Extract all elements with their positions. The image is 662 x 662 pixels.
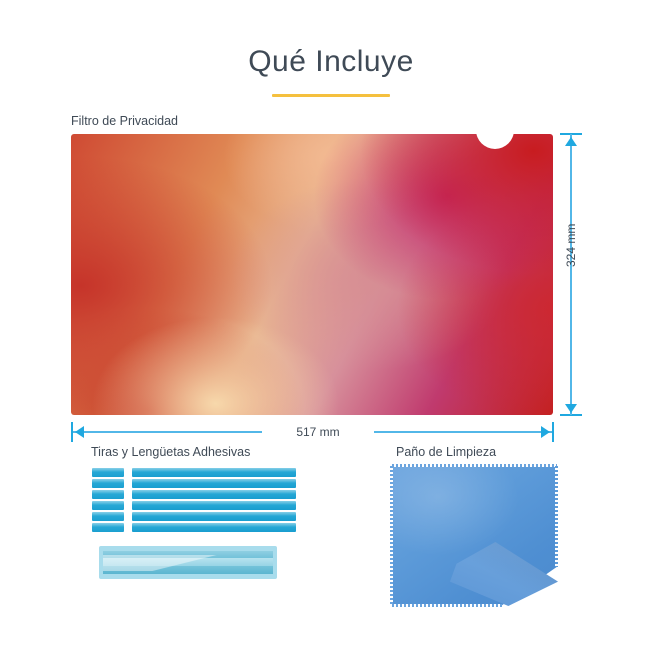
- adhesive-strip-tab: [92, 523, 124, 532]
- adhesive-strip-tab: [92, 479, 124, 488]
- adhesive-strip-tab: [92, 490, 124, 499]
- filter-corner-notch: [476, 134, 514, 149]
- dimension-arrow-down-icon: [565, 404, 577, 413]
- page-title: Qué Incluye: [0, 44, 662, 80]
- dimension-arrow-left-icon: [75, 426, 84, 438]
- adhesive-strip-row: [92, 501, 296, 510]
- adhesive-strip-row: [92, 490, 296, 499]
- adhesive-strip-row: [92, 468, 296, 477]
- cloth-stitched-edge-bottom: [392, 604, 502, 607]
- adhesive-strips-illustration: [92, 468, 296, 532]
- adhesive-strip-row: [92, 479, 296, 488]
- strip-stack-notch: [191, 546, 208, 550]
- dimension-width-label: 517 mm: [262, 425, 374, 439]
- adhesive-strip-tab: [92, 512, 124, 521]
- privacy-filter-label: Filtro de Privacidad: [71, 114, 178, 128]
- adhesive-strip-body: [132, 490, 296, 499]
- strip-stack-body: [103, 551, 273, 574]
- dimension-arrow-up-icon: [565, 137, 577, 146]
- adhesive-strip-row: [92, 523, 296, 532]
- strip-stack-highlight: [103, 555, 273, 571]
- adhesive-strip-stack-illustration: [99, 546, 277, 579]
- strip-stack-notch: [218, 546, 235, 550]
- strip-stack-notch: [245, 546, 262, 550]
- adhesive-strip-body: [132, 523, 296, 532]
- dimension-arrow-right-icon: [541, 426, 550, 438]
- adhesive-strip-body: [132, 501, 296, 510]
- adhesive-strip-row: [92, 512, 296, 521]
- cloth-stitched-edge-top: [392, 464, 557, 467]
- cleaning-cloth-label: Paño de Limpieza: [396, 445, 496, 459]
- dimension-tick-left: [71, 422, 73, 442]
- cloth-stitched-edge-right: [555, 466, 558, 567]
- adhesive-strips-label: Tiras y Lengüetas Adhesivas: [91, 445, 250, 459]
- dimension-tick-right: [552, 422, 554, 442]
- cloth-stitched-edge-left: [390, 466, 393, 606]
- title-underline-rule: [272, 94, 390, 97]
- adhesive-strip-body: [132, 512, 296, 521]
- adhesive-strip-body: [132, 479, 296, 488]
- cleaning-cloth-illustration: [392, 466, 557, 606]
- dimension-line-vertical: [570, 134, 572, 415]
- dimension-height-label: 324 mm: [564, 245, 578, 267]
- adhesive-strip-body: [132, 468, 296, 477]
- adhesive-strip-tab: [92, 468, 124, 477]
- page-header: Qué Incluye: [0, 44, 662, 97]
- adhesive-strip-tab: [92, 501, 124, 510]
- privacy-filter-panel: [71, 134, 553, 415]
